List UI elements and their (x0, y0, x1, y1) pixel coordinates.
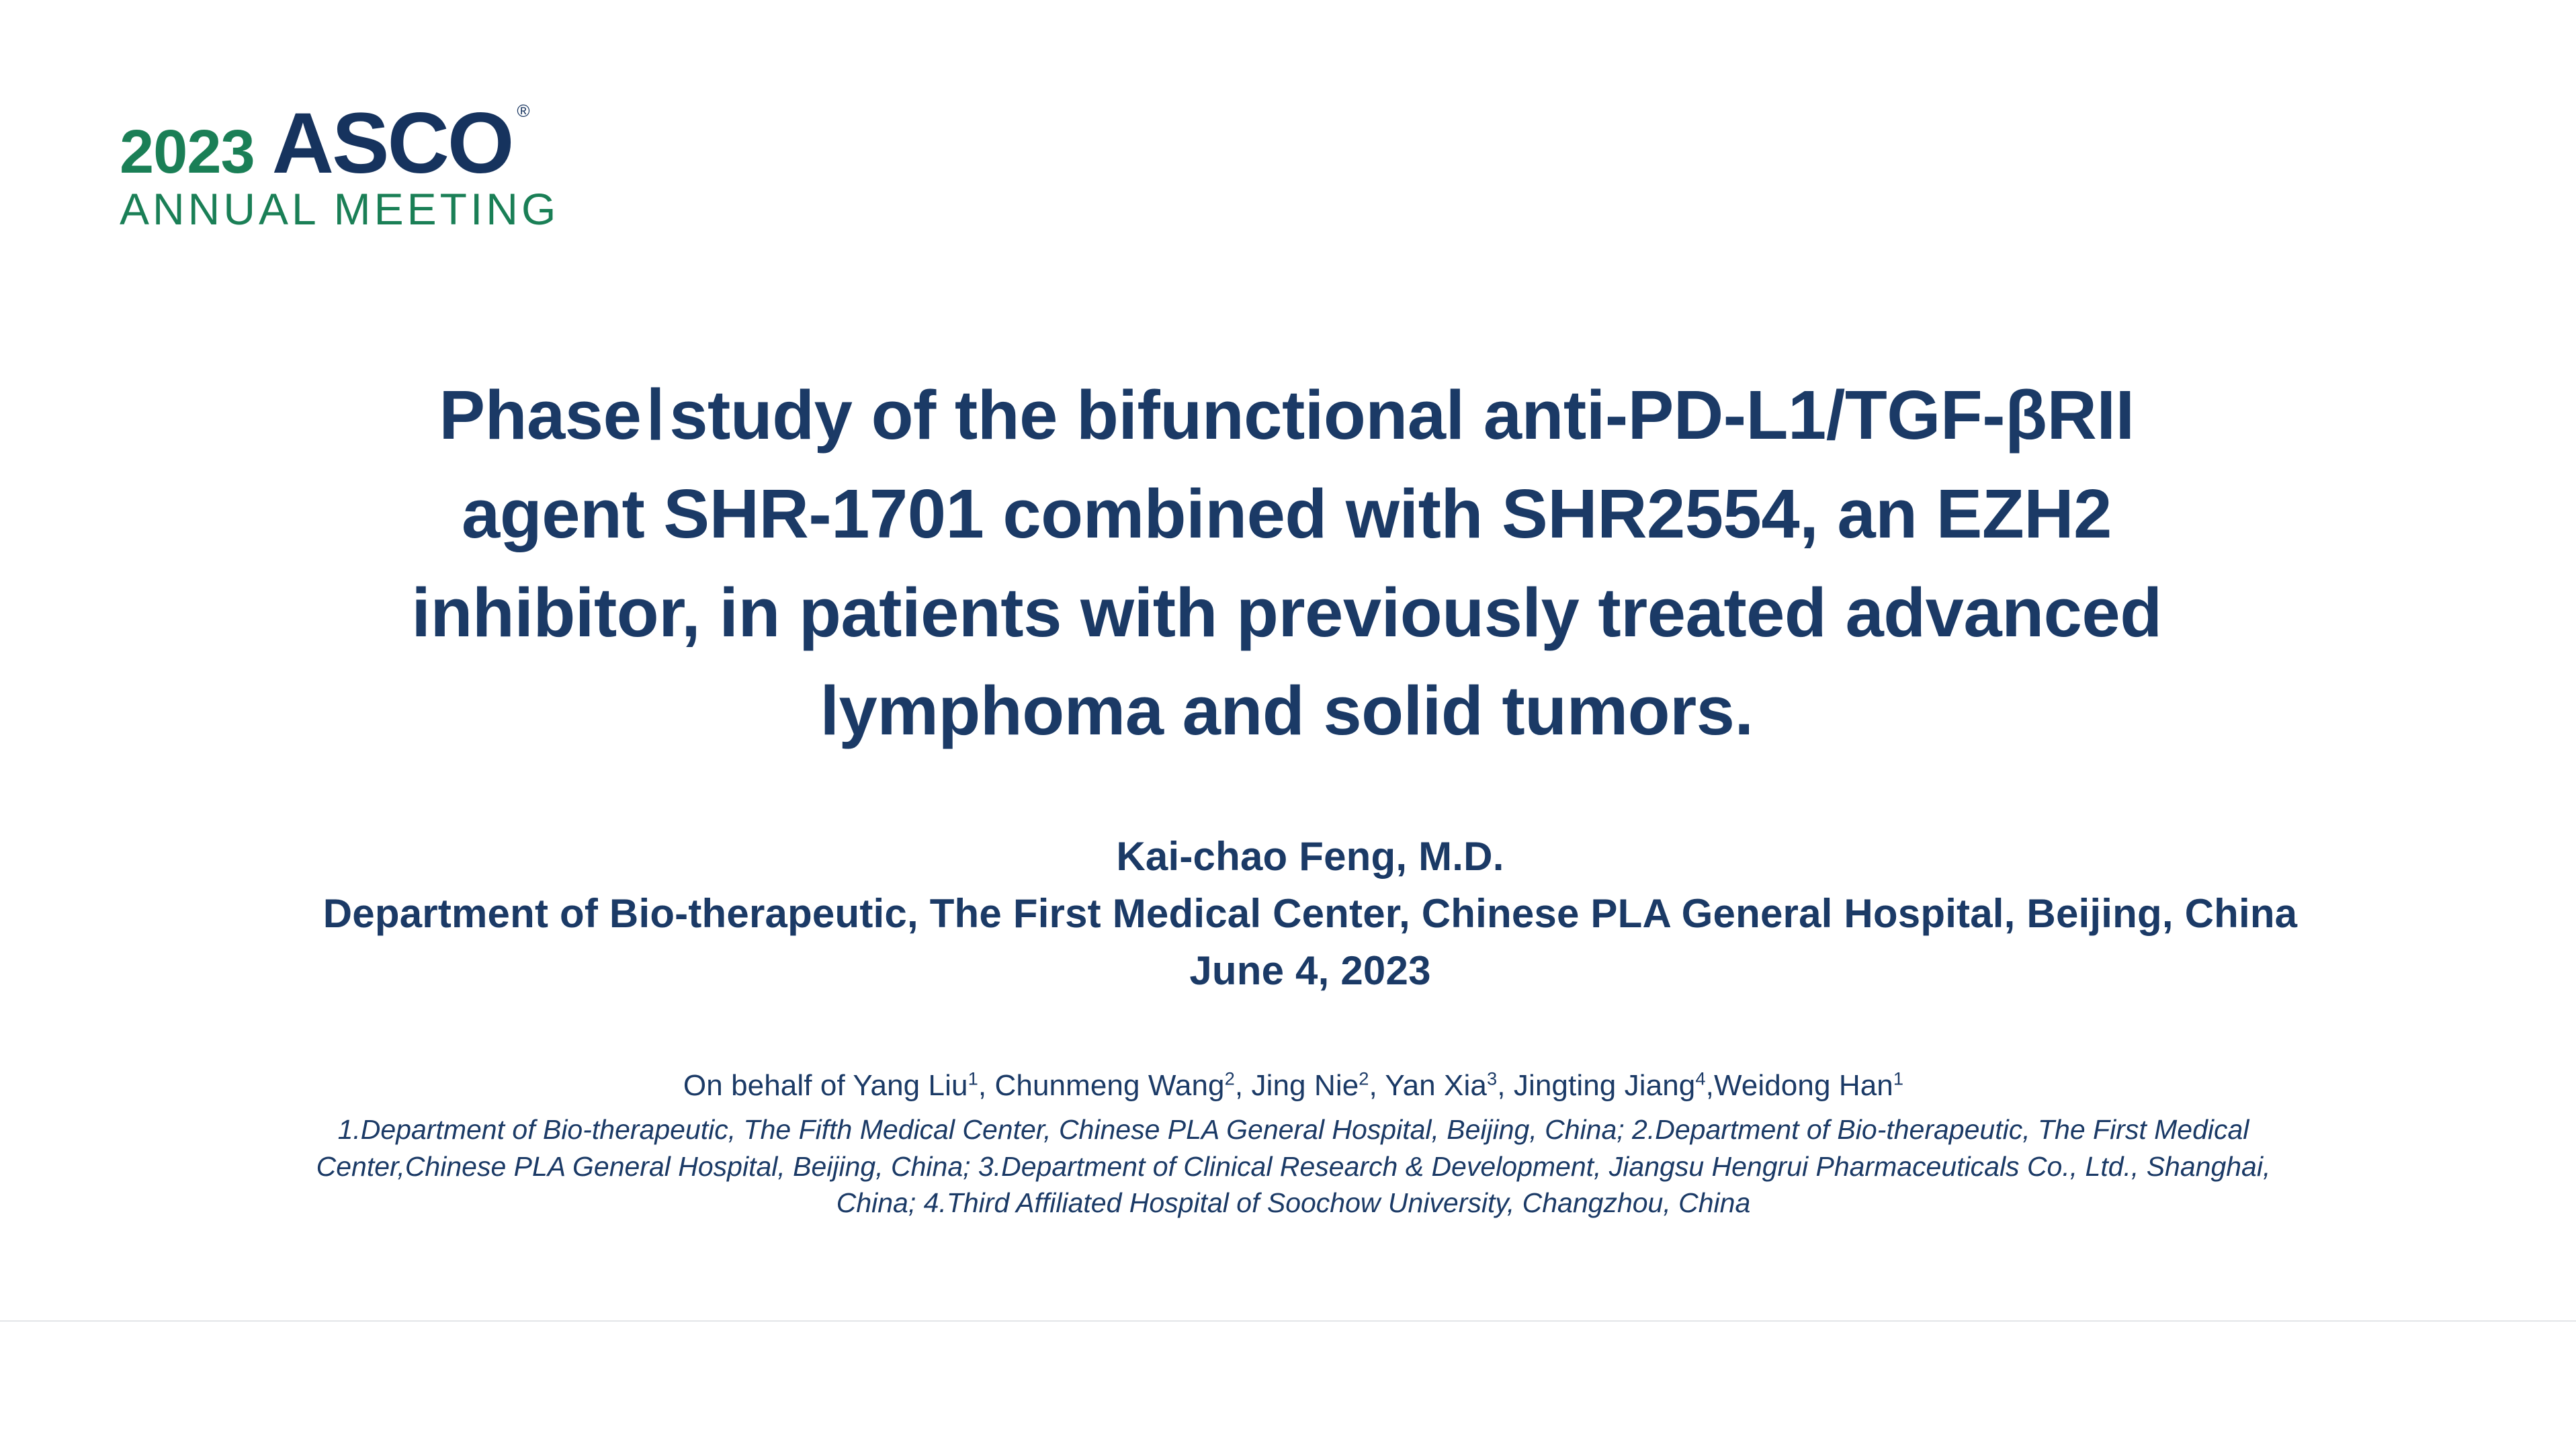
author-separator: , (1497, 1069, 1514, 1102)
author-separator: , (1706, 1069, 1714, 1102)
author-list: On behalf of Yang Liu1, Chunmeng Wang2, … (128, 1067, 2459, 1105)
author-item: Jing Nie (1252, 1069, 1359, 1102)
author-affil-ref: 3 (1487, 1068, 1497, 1089)
header-logo-brand-text: ASCO (272, 95, 513, 191)
header-logo-top-row: 2023 ASCO® (120, 101, 617, 183)
title-line-4: lymphoma and solid tumors. (202, 662, 2372, 760)
author-separator: , (978, 1069, 995, 1102)
header-logo-subtitle: ANNUAL MEETING (120, 187, 617, 231)
footer: 2023 ASCO® ANNUAL MEETING #ASCO23 PRESEN… (0, 1322, 2576, 1450)
header-logo-wordmark: ASCO® (272, 101, 513, 187)
authors-block: On behalf of Yang Liu1, Chunmeng Wang2, … (128, 1067, 2459, 1222)
author-item: On behalf of Yang Liu (683, 1069, 968, 1102)
title-line-3: inhibitor, in patients with previously t… (202, 564, 2372, 662)
header-logo-year: 2023 (120, 121, 255, 183)
author-affil-ref: 2 (1225, 1068, 1235, 1089)
presentation-date: June 4, 2023 (134, 942, 2486, 999)
affiliation-line-2: Center,Chinese PLA General Hospital, Bei… (128, 1148, 2459, 1185)
author-item: Yan Xia (1385, 1069, 1487, 1102)
author-separator: , (1235, 1069, 1252, 1102)
author-affil-ref: 2 (1359, 1068, 1369, 1089)
author-affil-ref: 1 (1893, 1068, 1903, 1089)
author-item: Weidong Han (1714, 1069, 1893, 1102)
page-title: PhaseⅠstudy of the bifunctional anti-PD-… (202, 366, 2372, 760)
author-affil-ref: 1 (968, 1068, 978, 1089)
presenter-block: Kai-chao Feng, M.D. Department of Bio-th… (134, 828, 2486, 1000)
affiliations-list: 1.Department of Bio-therapeutic, The Fif… (128, 1111, 2459, 1222)
title-line-1-prefix: Phase (439, 376, 641, 454)
registered-mark-icon: ® (517, 102, 529, 120)
title-line-2: agent SHR-1701 combined with SHR2554, an… (202, 465, 2372, 563)
author-item: Chunmeng Wang (995, 1069, 1225, 1102)
header-asco-logo: 2023 ASCO® ANNUAL MEETING (120, 101, 617, 231)
presenter-affiliation: Department of Bio-therapeutic, The First… (134, 885, 2486, 942)
title-line-1: PhaseⅠstudy of the bifunctional anti-PD-… (202, 366, 2372, 465)
roman-numeral-one: Ⅰ (641, 378, 669, 454)
affiliation-line-1: 1.Department of Bio-therapeutic, The Fif… (128, 1111, 2459, 1148)
title-line-1-suffix: study of the bifunctional anti-PD-L1/TGF… (669, 376, 2134, 454)
author-item: Jingting Jiang (1514, 1069, 1695, 1102)
affiliation-line-3: China; 4.Third Affiliated Hospital of So… (128, 1185, 2459, 1222)
slide-root: 2023 ASCO® ANNUAL MEETING PhaseⅠstudy of… (0, 0, 2576, 1450)
presenter-name: Kai-chao Feng, M.D. (134, 828, 2486, 885)
author-affil-ref: 4 (1695, 1068, 1705, 1089)
author-separator: , (1369, 1069, 1385, 1102)
